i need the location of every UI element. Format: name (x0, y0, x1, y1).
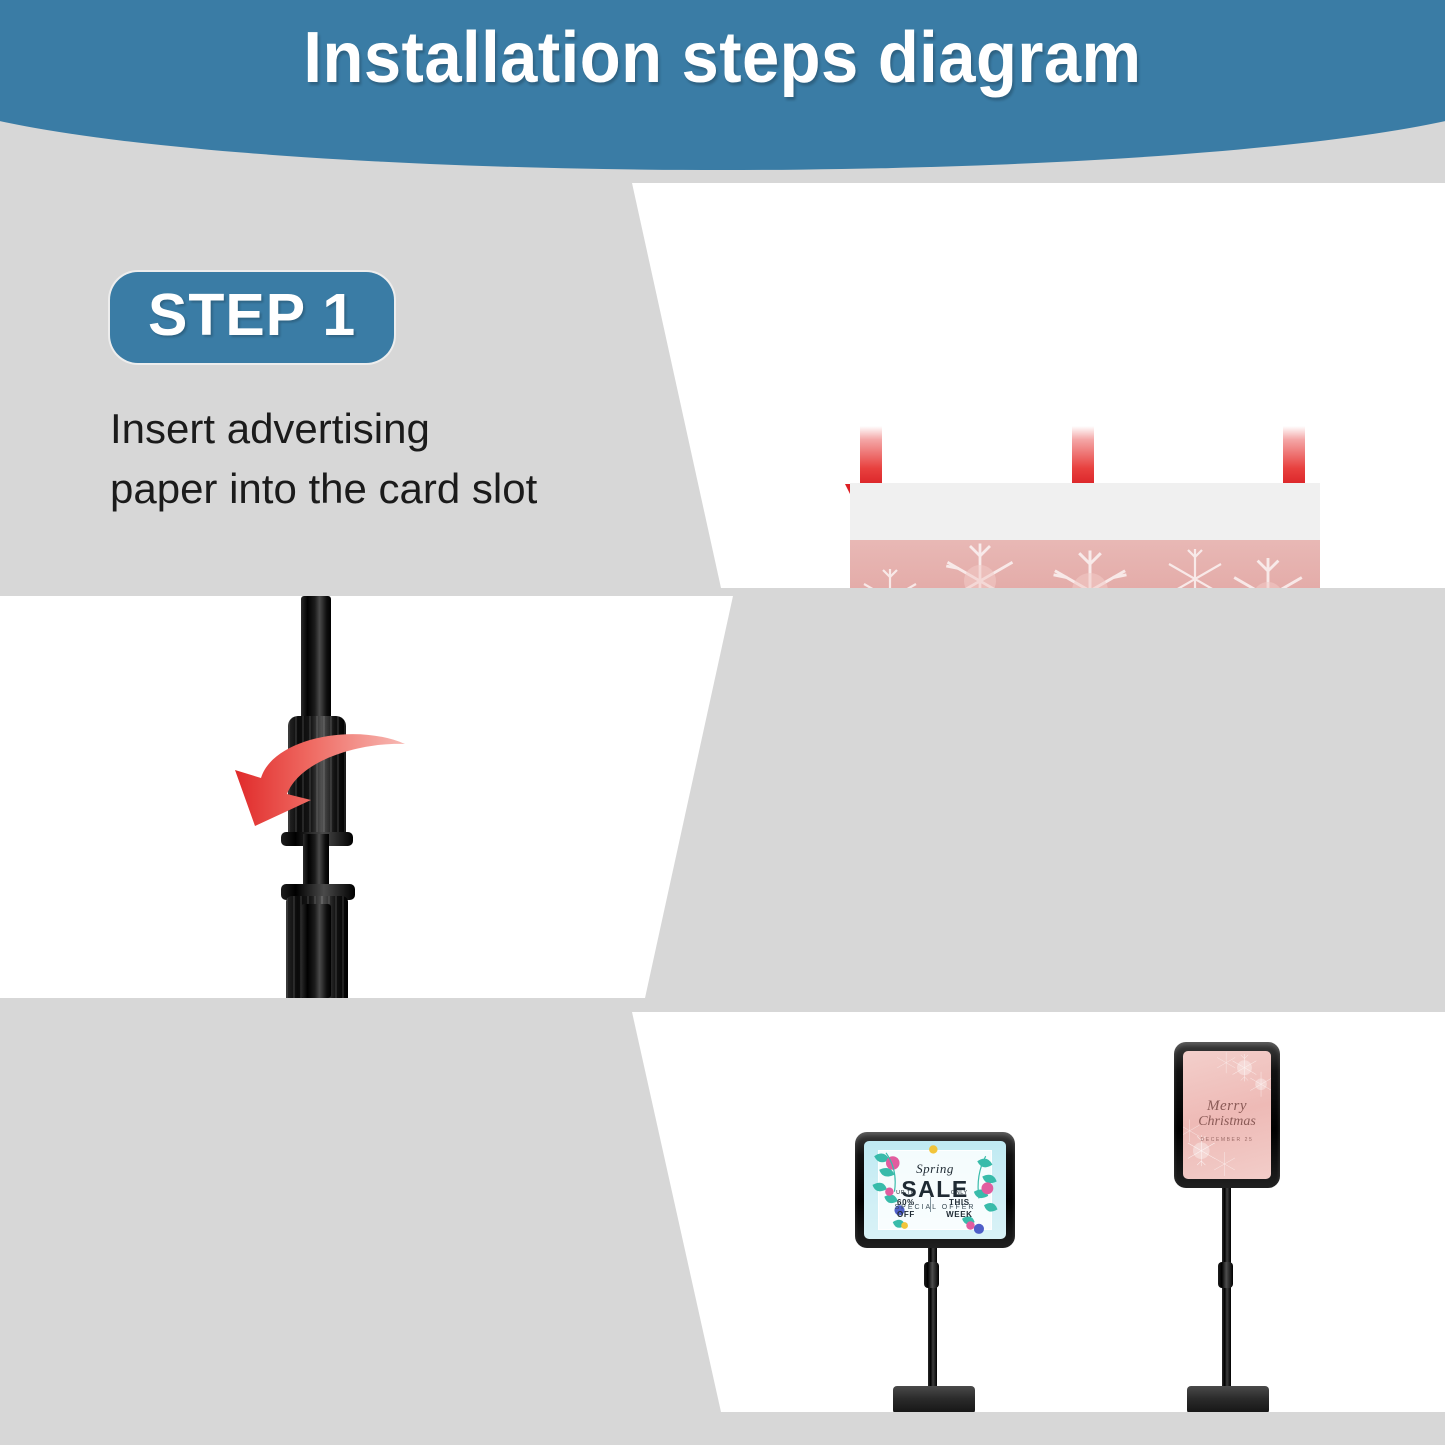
merry-christmas-text-group: Merry Christmas DECEMBER 25 (1183, 1099, 1271, 1143)
step-3-image-panel: Spring SALE SPECIAL OFFER UP TO 60% OFF (0, 1012, 1445, 1412)
pole-knob-illustration (0, 596, 1445, 998)
installation-steps-diagram: Installation steps diagram (0, 0, 1445, 1445)
spring-sale-offer-right: ONLY THIS WEEK (939, 1189, 980, 1221)
christmas-date: DECEMBER 25 (1183, 1137, 1271, 1143)
stand-base (1187, 1386, 1269, 1412)
step-1-caption: Insert advertising paper into the card s… (110, 399, 537, 518)
finished-sign-stands-illustration: Spring SALE SPECIAL OFFER UP TO 60% OFF (0, 1012, 1445, 1412)
spring-sale-offer-row: UP TO 60% OFF ONLY THIS WEEK (890, 1189, 980, 1221)
snowflake-pattern-icon (850, 539, 1320, 588)
spring-sale-offer-left: UP TO 60% OFF (890, 1189, 922, 1221)
spring-sale-only-label: ONLY (951, 1190, 968, 1196)
page-title: Installation steps diagram (51, 22, 1395, 94)
merry-christmas-sign-face: Merry Christmas DECEMBER 25 (1183, 1051, 1271, 1179)
stand-knob (924, 1262, 939, 1288)
step-2-row: STEP 2 Connect the knob to snap (0, 596, 1445, 998)
spring-sale-period: THIS WEEK (939, 1197, 980, 1221)
spring-sale-upto-label: UP TO (896, 1190, 916, 1196)
header-banner: Installation steps diagram (0, 0, 1445, 185)
step-3-row: Spring SALE SPECIAL OFFER UP TO 60% OFF (0, 1012, 1445, 1412)
christmas-script-2: Christmas (1183, 1114, 1271, 1129)
step-2-image-panel (0, 596, 1445, 998)
advertising-paper (850, 483, 1320, 588)
stand-base (893, 1386, 975, 1412)
spring-sale-sign-face: Spring SALE SPECIAL OFFER UP TO 60% OFF (864, 1141, 1006, 1239)
telescoping-pole-upper (301, 596, 331, 726)
step-1-text-block: STEP 1 Insert advertising paper into the… (110, 272, 537, 518)
spring-sale-discount: 60% OFF (890, 1197, 922, 1221)
spring-sale-sign: Spring SALE SPECIAL OFFER UP TO 60% OFF (855, 1132, 1015, 1248)
merry-christmas-sign: Merry Christmas DECEMBER 25 (1174, 1042, 1280, 1188)
step-1-row: STEP 1 Insert advertising paper into the… (0, 183, 1445, 588)
telescoping-pole-lower (301, 904, 331, 998)
step-1-badge: STEP 1 (110, 272, 394, 363)
rotate-arrow-icon (215, 716, 435, 866)
christmas-script-1: Merry (1183, 1099, 1271, 1114)
spring-sale-script: Spring (864, 1161, 1006, 1177)
stand-rod (1222, 1188, 1231, 1398)
stand-knob (1218, 1262, 1233, 1288)
offer-divider (930, 1197, 931, 1212)
